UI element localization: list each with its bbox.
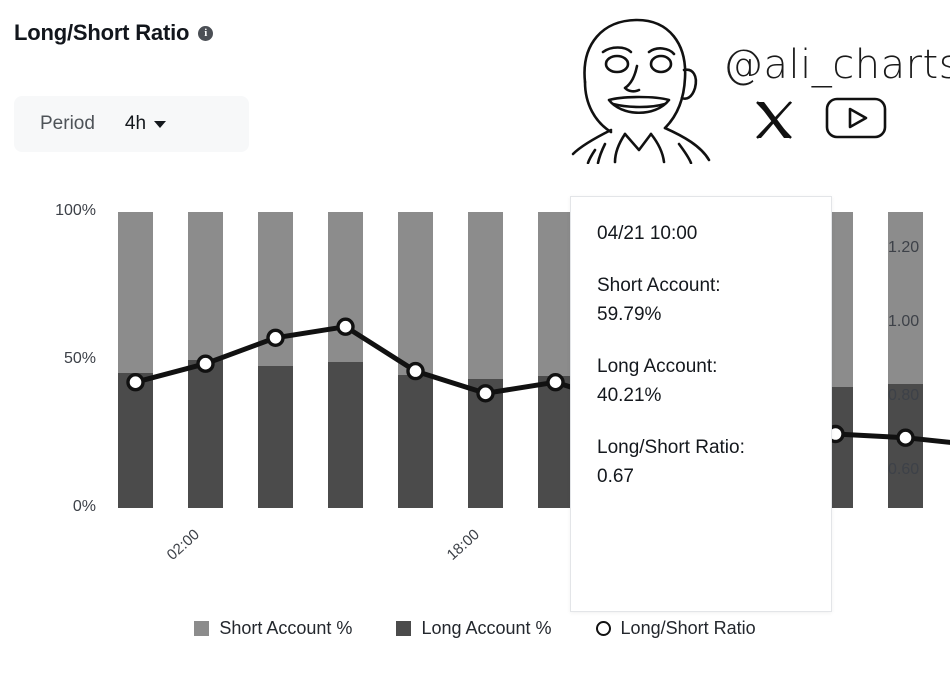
- chevron-down-icon[interactable]: [154, 121, 166, 128]
- legend-label-ratio: Long/Short Ratio: [621, 618, 756, 639]
- watermark: @ali_charts: [555, 4, 950, 164]
- tooltip-key-long: Long Account:: [597, 352, 831, 381]
- ratio-point-5[interactable]: [478, 386, 493, 401]
- legend-item-short[interactable]: Short Account %: [194, 618, 352, 639]
- x-twitter-icon: [751, 96, 797, 142]
- tooltip-value-long: 40.21%: [597, 381, 831, 410]
- tooltip-value-short: 59.79%: [597, 300, 831, 329]
- legend-swatch-short: [194, 621, 209, 636]
- ratio-point-0[interactable]: [128, 375, 143, 390]
- page-title-text: Long/Short Ratio: [14, 20, 189, 46]
- page-title: Long/Short Ratio i: [14, 20, 213, 46]
- y-right-tick-1: 0.80: [888, 387, 919, 405]
- period-label: Period: [40, 113, 95, 135]
- period-value: 4h: [125, 113, 146, 135]
- ratio-point-1[interactable]: [198, 356, 213, 371]
- chart-legend: Short Account % Long Account % Long/Shor…: [0, 618, 950, 639]
- ratio-point-11[interactable]: [898, 430, 913, 445]
- chart-tooltip: 04/21 10:00 Short Account: 59.79% Long A…: [570, 196, 832, 612]
- ratio-point-3[interactable]: [338, 319, 353, 334]
- legend-marker-ratio: [596, 621, 611, 636]
- y-right-tick-2: 1.00: [888, 313, 919, 331]
- tooltip-row-ratio: Long/Short Ratio: 0.67: [597, 433, 831, 492]
- info-icon[interactable]: i: [198, 26, 213, 41]
- ratio-point-4[interactable]: [408, 364, 423, 379]
- tooltip-row-long: Long Account: 40.21%: [597, 352, 831, 411]
- legend-swatch-long: [396, 621, 411, 636]
- chart-page: Long/Short Ratio i Period 4h: [0, 0, 950, 680]
- ratio-point-2[interactable]: [268, 330, 283, 345]
- legend-item-long[interactable]: Long Account %: [396, 618, 551, 639]
- y-left-tick-0: 0%: [28, 498, 96, 516]
- y-right-tick-0: 0.60: [888, 461, 919, 479]
- youtube-icon: [825, 96, 887, 140]
- ratio-point-6[interactable]: [548, 375, 563, 390]
- legend-item-ratio[interactable]: Long/Short Ratio: [596, 618, 756, 639]
- tooltip-timestamp: 04/21 10:00: [597, 223, 831, 245]
- tooltip-key-ratio: Long/Short Ratio:: [597, 433, 831, 462]
- period-selector[interactable]: Period 4h: [14, 96, 249, 152]
- legend-label-long: Long Account %: [421, 618, 551, 639]
- y-left-tick-2: 100%: [28, 202, 96, 220]
- avatar-portrait-icon: [555, 4, 730, 164]
- tooltip-value-ratio: 0.67: [597, 462, 831, 491]
- y-right-tick-3: 1.20: [888, 239, 919, 257]
- tooltip-row-short: Short Account: 59.79%: [597, 271, 831, 330]
- y-left-tick-1: 50%: [28, 350, 96, 368]
- tooltip-key-short: Short Account:: [597, 271, 831, 300]
- legend-label-short: Short Account %: [219, 618, 352, 639]
- watermark-handle: @ali_charts: [723, 42, 950, 88]
